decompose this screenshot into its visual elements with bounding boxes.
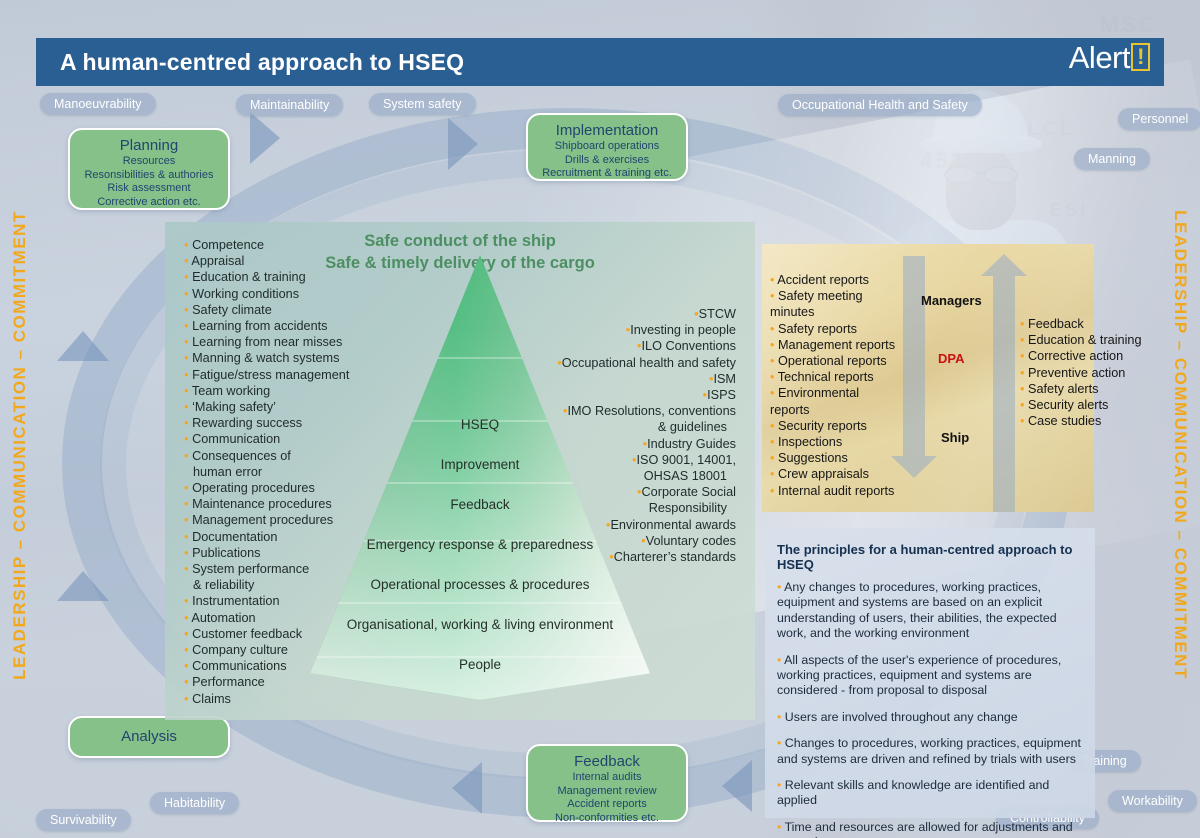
list-item-label: Management reports	[774, 338, 895, 352]
list-item-label: Education & training	[189, 270, 306, 284]
list-item-label: ‘Making safety’	[189, 400, 276, 414]
cycle-box-analysis[interactable]: Analysis	[68, 716, 230, 758]
principles-title: The principles for a human-centred appro…	[765, 528, 1095, 580]
cycle-arrow-head	[57, 331, 109, 361]
list-item: • Accident reports	[770, 272, 900, 288]
list-item: • Inspections	[770, 434, 900, 450]
list-item-label: Performance	[189, 675, 265, 689]
principle-item: • Changes to procedures, working practic…	[777, 736, 1083, 767]
principle-text: Changes to procedures, working practices…	[777, 736, 1081, 765]
list-item-label: Environmental reports	[770, 386, 859, 416]
list-item-label: Operating procedures	[189, 481, 315, 495]
cycle-arrow-head	[452, 762, 482, 814]
list-item: • Corrective action	[1020, 348, 1150, 364]
cycle-box-line: Resources	[80, 155, 218, 169]
alert-logo: Alert!	[1069, 40, 1150, 76]
list-item-label: Competence	[189, 238, 264, 252]
cycle-box-title: Planning	[80, 137, 218, 154]
cycle-box-feedback[interactable]: Feedback Internal audits Management revi…	[526, 744, 688, 822]
logo-exclamation-icon: !	[1131, 43, 1150, 71]
list-item-label: Corporate Social	[642, 485, 737, 499]
cycle-box-line: Accident reports	[538, 798, 676, 812]
list-item: • Security reports	[770, 418, 900, 434]
cone-level-5: Operational processes & procedures	[310, 577, 650, 592]
cycle-box-title: Implementation	[538, 122, 676, 139]
cycle-arrow-head	[722, 760, 752, 812]
side-label-right: LEADERSHIP – COMMUNICATION – COMMITMENT	[1170, 210, 1190, 680]
list-item: • Competence	[184, 237, 364, 253]
cycle-box-implementation[interactable]: Implementation Shipboard operations Dril…	[526, 113, 688, 181]
list-item-label: Technical reports	[774, 370, 873, 384]
list-item-label: Learning from accidents	[189, 319, 328, 333]
list-item-label: Feedback	[1024, 317, 1083, 331]
pill-survivability[interactable]: Survivability	[36, 809, 131, 831]
list-item: • Crew appraisals	[770, 466, 900, 482]
hseq-cone	[310, 255, 650, 700]
bullet-icon: •	[777, 736, 781, 750]
list-item: • Safety meeting minutes	[770, 288, 900, 320]
cycle-box-line: Corrective action etc.	[80, 196, 218, 210]
cycle-arrow-head	[448, 118, 478, 170]
list-item-label: Security alerts	[1024, 398, 1108, 412]
cycle-box-planning[interactable]: Planning Resources Resonsibilities & aut…	[68, 128, 230, 210]
list-item: • Technical reports	[770, 369, 900, 385]
list-item: • Safety alerts	[1020, 381, 1150, 397]
list-item-label: Documentation	[189, 530, 278, 544]
pill-workability[interactable]: Workability	[1108, 790, 1197, 812]
list-item-label: Corrective action	[1024, 349, 1123, 363]
list-item: • Case studies	[1020, 413, 1150, 429]
poster-root: 919 HLCL 4521 MSC ESI A human-centred ap…	[0, 0, 1200, 838]
role-ship: Ship	[941, 430, 969, 445]
principle-item: • Any changes to procedures, working pra…	[777, 580, 1083, 642]
list-item-label: Communications	[189, 659, 287, 673]
cycle-box-line: Non-conformities etc.	[538, 812, 676, 826]
principle-item: • Relevant skills and knowledge are iden…	[777, 778, 1083, 809]
cycle-box-line: Management review	[538, 785, 676, 799]
cycle-arrow-head	[57, 571, 109, 601]
pill-personnel[interactable]: Personnel	[1118, 108, 1200, 130]
list-item-label: Safety climate	[189, 303, 272, 317]
feedback-down-list: • Feedback• Education & training• Correc…	[1020, 316, 1150, 429]
principle-item: • All aspects of the user's experience o…	[777, 653, 1083, 699]
list-item-label: Publications	[189, 546, 261, 560]
list-item-label: Inspections	[774, 435, 842, 449]
logo-text: Alert	[1069, 40, 1130, 75]
list-item-label: Instrumentation	[189, 594, 280, 608]
list-item-label: Safety reports	[774, 322, 857, 336]
header-bar: A human-centred approach to HSEQ Alert!	[36, 38, 1164, 86]
cone-level-4: Emergency response & preparedness	[310, 537, 650, 552]
cycle-box-line: Resonsibilities & authories	[80, 169, 218, 183]
list-item-label: Industry Guides	[647, 437, 736, 451]
list-item-label: Case studies	[1024, 414, 1101, 428]
list-item-label: Company culture	[189, 643, 288, 657]
list-item: • Operational reports	[770, 353, 900, 369]
list-item: • Environmental reports	[770, 385, 900, 417]
list-item-label: Security reports	[774, 419, 866, 433]
cycle-box-line: Recruitment & training etc.	[538, 167, 676, 181]
arrow-down-ship	[903, 256, 925, 456]
pill-system-safety[interactable]: System safety	[369, 93, 476, 115]
cone-level-3: Feedback	[310, 497, 650, 512]
principle-text: All aspects of the user's experience of …	[777, 653, 1061, 698]
cone-level-7: People	[310, 657, 650, 672]
list-item-label: System performance	[189, 562, 310, 576]
arrow-up-managers	[993, 276, 1015, 512]
list-item-label: Customer feedback	[189, 627, 303, 641]
list-item-label: ILO Conventions	[641, 339, 736, 353]
list-item-label: Working conditions	[189, 287, 299, 301]
side-label-left: LEADERSHIP – COMMUNICATION – COMMITMENT	[10, 210, 30, 680]
role-managers: Managers	[921, 293, 982, 308]
principle-text: Users are involved throughout any change	[785, 710, 1018, 724]
list-item-label: ISM	[713, 372, 736, 386]
reports-up-list: • Accident reports• Safety meeting minut…	[770, 272, 900, 499]
dpa-label: DPA	[938, 351, 964, 366]
principle-text: Time and resources are allowed for adjus…	[777, 820, 1073, 838]
cone-level-1: HSEQ	[310, 417, 650, 432]
list-item-label: Education & training	[1024, 333, 1141, 347]
list-item-label: Rewarding success	[189, 416, 303, 430]
list-item: • Feedback	[1020, 316, 1150, 332]
principles-panel: The principles for a human-centred appro…	[765, 528, 1095, 818]
pill-occupational-health-and-safety[interactable]: Occupational Health and Safety	[778, 94, 982, 116]
cone-shape	[310, 255, 650, 700]
list-item-label: STCW	[699, 307, 736, 321]
pill-maintainability[interactable]: Maintainability	[236, 94, 343, 116]
principle-text: Relevant skills and knowledge are identi…	[777, 778, 1049, 807]
list-item: • Management reports	[770, 337, 900, 353]
list-item-label: Safety meeting minutes	[770, 289, 863, 319]
pill-manning[interactable]: Manning	[1074, 148, 1150, 170]
list-item-label: ISO 9001, 14001,	[637, 453, 736, 467]
list-item-label: Accident reports	[774, 273, 869, 287]
list-item: • Preventive action	[1020, 365, 1150, 381]
list-item-label: Voluntary codes	[646, 534, 736, 548]
list-item: • Security alerts	[1020, 397, 1150, 413]
page-title: A human-centred approach to HSEQ	[60, 49, 464, 76]
list-item-label: Team working	[189, 384, 271, 398]
list-item: • Safety reports	[770, 321, 900, 337]
cone-level-6: Organisational, working & living environ…	[310, 617, 650, 632]
list-item-label: Automation	[189, 611, 256, 625]
list-item-label: Appraisal	[189, 254, 245, 268]
bullet-icon: •	[777, 820, 781, 834]
list-item-label: Safety alerts	[1024, 382, 1098, 396]
cycle-box-title: Analysis	[80, 728, 218, 745]
cycle-box-line: Internal audits	[538, 771, 676, 785]
list-item-label: Internal audit reports	[774, 484, 894, 498]
list-item-label: Suggestions	[774, 451, 847, 465]
cycle-box-line: Drills & exercises	[538, 154, 676, 168]
principle-item: • Users are involved throughout any chan…	[777, 710, 1083, 725]
cycle-box-line: Risk assessment	[80, 182, 218, 196]
list-item-label: Crew appraisals	[774, 467, 869, 481]
list-item: • Suggestions	[770, 450, 900, 466]
list-item-label: ISPS	[707, 388, 736, 402]
bullet-icon: •	[777, 653, 781, 667]
list-item: • Education & training	[1020, 332, 1150, 348]
principle-item: • Time and resources are allowed for adj…	[777, 820, 1083, 838]
cycle-box-title: Feedback	[538, 753, 676, 770]
cycle-arrow-head	[250, 112, 280, 164]
pill-habitability[interactable]: Habitability	[150, 792, 239, 814]
cycle-box-line: Shipboard operations	[538, 140, 676, 154]
list-item-label: Operational reports	[774, 354, 886, 368]
bullet-icon: •	[777, 580, 781, 594]
list-item-label: Preventive action	[1024, 366, 1125, 380]
principle-text: Any changes to procedures, working pract…	[777, 580, 1057, 640]
list-item-label: Claims	[189, 692, 231, 706]
cone-level-2: Improvement	[310, 457, 650, 472]
list-item-label: Communication	[189, 432, 281, 446]
pill-manoeuvrability[interactable]: Manoeuvrability	[40, 93, 156, 115]
bullet-icon: •	[777, 710, 781, 724]
bullet-icon: •	[777, 778, 781, 792]
list-item: • Internal audit reports	[770, 483, 900, 499]
list-item-label: Consequences of	[189, 449, 291, 463]
